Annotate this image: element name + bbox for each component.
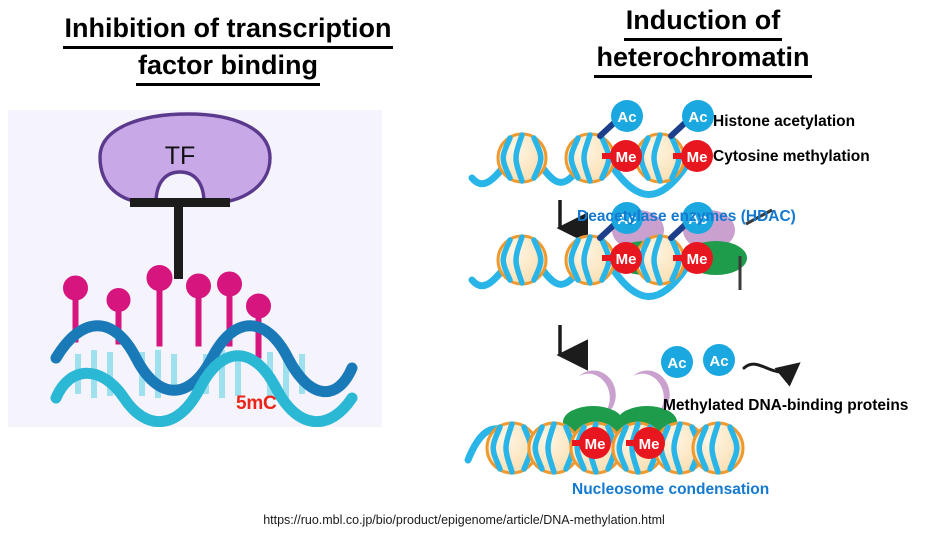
left-title-line-1: Inhibition of transcription xyxy=(63,12,394,49)
right-title-line-2: heterochromatin xyxy=(594,41,811,78)
inhibition-of-tf-binding-panel: TF xyxy=(8,110,382,427)
nucleosome xyxy=(498,236,546,284)
methyl-lollipop xyxy=(147,266,172,347)
step-1-open-chromatin: Ac Ac Me Me xyxy=(472,100,714,195)
methyl-mark-label: 5mC xyxy=(236,393,277,415)
svg-text:Ac: Ac xyxy=(617,109,636,126)
right-panel-title: Induction of heterochromatin xyxy=(488,4,918,78)
svg-text:Me: Me xyxy=(616,251,637,268)
tf-label: TF xyxy=(165,142,196,170)
nucleosome xyxy=(693,423,743,473)
acetyl-badge: Ac xyxy=(611,100,643,132)
methyl-lollipop-group xyxy=(64,266,271,359)
svg-text:Ac: Ac xyxy=(667,355,686,372)
hdac-label: Deacetylase enzymes (HDAC) xyxy=(577,208,796,226)
free-acetyl-badge: Ac xyxy=(661,346,693,378)
tf-binding-illustration: TF xyxy=(8,110,382,427)
svg-text:Me: Me xyxy=(616,149,637,166)
methyl-lollipop xyxy=(187,274,211,346)
transcription-factor-shape: TF xyxy=(100,114,270,203)
svg-text:Ac: Ac xyxy=(709,353,728,370)
step-3-condensed-chromatin: Me Me xyxy=(468,368,743,473)
inhibition-tbar-icon xyxy=(130,198,230,279)
svg-text:Ac: Ac xyxy=(688,109,707,126)
right-title-line-1: Induction of xyxy=(624,4,782,41)
free-acetyl-badge: Ac xyxy=(703,344,735,376)
nucleosome-condensation-label: Nucleosome condensation xyxy=(572,481,769,499)
methylated-dna-binding-proteins-label: Methylated DNA-binding proteins xyxy=(663,397,908,415)
dna-double-helix xyxy=(56,326,352,422)
histone-acetylation-label: Histone acetylation xyxy=(713,113,855,131)
acetyl-badge: Ac xyxy=(682,100,714,132)
left-panel-title: Inhibition of transcription factor bindi… xyxy=(8,12,448,86)
svg-text:Me: Me xyxy=(639,436,660,453)
histone-tail xyxy=(671,122,686,136)
svg-text:Me: Me xyxy=(585,436,606,453)
acetyl-removal-arrow xyxy=(744,364,796,372)
source-url-text: https://ruo.mbl.co.jp/bio/product/epigen… xyxy=(0,513,928,527)
cytosine-methylation-label: Cytosine methylation xyxy=(713,148,870,166)
left-title-line-2: factor binding xyxy=(136,49,320,86)
svg-text:Me: Me xyxy=(687,251,708,268)
histone-tail xyxy=(600,122,615,136)
induction-of-heterochromatin-panel: Ac Ac Me Me xyxy=(460,100,928,500)
svg-text:Me: Me xyxy=(687,149,708,166)
nucleosome xyxy=(498,134,546,182)
